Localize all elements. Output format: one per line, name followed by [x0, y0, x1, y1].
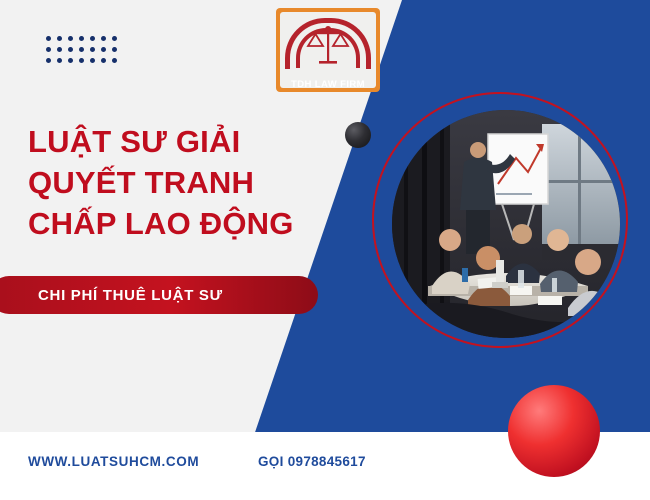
headline-line-3: CHẤP LAO ĐỘNG	[28, 204, 294, 245]
red-sphere-decoration	[508, 385, 600, 477]
cta-button[interactable]: CHI PHÍ THUÊ LUẬT SƯ	[0, 276, 318, 314]
logo-wordmark: TDH LAW FIRM	[276, 79, 380, 90]
cta-label: CHI PHÍ THUÊ LUẬT SƯ	[38, 287, 223, 304]
scales-of-justice-icon	[306, 20, 350, 70]
brand-logo[interactable]: TDH LAW FIRM	[276, 8, 380, 92]
meeting-room-photo	[392, 110, 620, 338]
dot-grid-decoration	[46, 36, 123, 69]
banner-root: TDH LAW FIRM LUẬT SƯ GIẢI QUYẾT TRANH CH…	[0, 0, 650, 500]
dark-sphere-decoration	[345, 122, 371, 148]
logo-inner-panel	[280, 12, 376, 88]
headline-line-1: LUẬT SƯ GIẢI	[28, 122, 294, 163]
page-title: LUẬT SƯ GIẢI QUYẾT TRANH CHẤP LAO ĐỘNG	[28, 122, 294, 245]
phone-number[interactable]: GỌI 0978845617	[258, 454, 366, 469]
website-link[interactable]: WWW.LUATSUHCM.COM	[28, 454, 199, 469]
headline-line-2: QUYẾT TRANH	[28, 163, 294, 204]
